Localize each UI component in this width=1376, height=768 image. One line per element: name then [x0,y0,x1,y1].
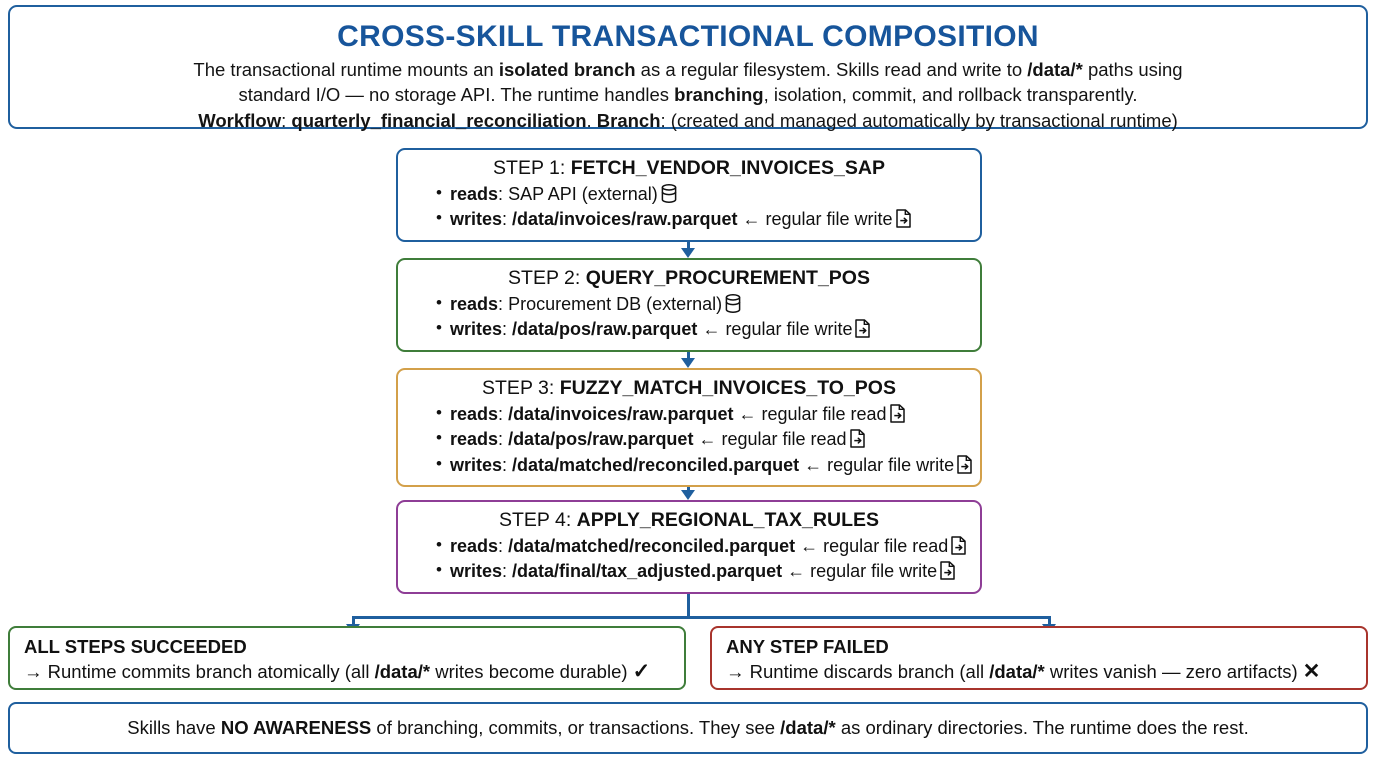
check-icon: ✓ [633,660,651,683]
footer-text-a: Skills have [127,717,221,738]
io-note: ← regular file write [804,455,954,475]
outcome-success-body-c: writes become durable) [430,661,633,682]
step-3-name: FUZZY_MATCH_INVOICES_TO_POS [560,377,896,399]
step-1-title: STEP 1: FETCH_VENDOR_INVOICES_SAP [398,156,980,182]
step-2-name: QUERY_PROCUREMENT_POS [586,267,870,289]
io-kind: writes [450,209,502,229]
file-read-icon [890,404,905,423]
step-2-label: STEP 2: [508,267,586,289]
io-colon: : [502,561,512,581]
outcome-failure-body-a: → Runtime discards branch (all [726,661,989,682]
outcome-success-heading: ALL STEPS SUCCEEDED [24,635,672,658]
io-path: SAP API (external) [508,184,658,204]
io-row: reads: /data/invoices/raw.parquet ← regu… [436,402,972,428]
io-colon: : [502,319,512,339]
step-box-2: STEP 2: QUERY_PROCUREMENT_POSreads: Proc… [396,258,982,352]
io-kind: writes [450,319,502,339]
io-note: ← regular file read [738,404,886,424]
io-path: Procurement DB (external) [508,294,722,314]
footer-note: Skills have NO AWARENESS of branching, c… [127,717,1248,739]
io-colon: : [498,294,508,314]
io-row: reads: /data/pos/raw.parquet ← regular f… [436,427,972,453]
workflow-value: quarterly_financial_reconciliation [291,110,586,131]
step-4-title: STEP 4: APPLY_REGIONAL_TAX_RULES [398,508,980,534]
header-line2-a: standard I/O — no storage API. The runti… [238,84,674,105]
split-connector-right-drop [1048,616,1051,624]
io-path: /data/matched/reconciled.parquet [512,455,799,475]
header-line-3: Workflow: quarterly_financial_reconcilia… [60,108,1316,134]
header-line3-d: . [587,110,597,131]
outcome-failure-heading: ANY STEP FAILED [726,635,1354,658]
footer-text-e: as ordinary directories. The runtime doe… [836,717,1249,738]
io-path: /data/final/tax_adjusted.parquet [512,561,782,581]
io-colon: : [498,429,508,449]
connector-arrowhead-3 [681,490,695,500]
io-path: /data/pos/raw.parquet [512,319,697,339]
header-line-2: standard I/O — no storage API. The runti… [60,82,1316,108]
io-note: ← regular file write [742,209,892,229]
io-path: /data/pos/raw.parquet [508,429,693,449]
step-3-io-list: reads: /data/invoices/raw.parquet ← regu… [398,402,980,479]
header-description: The transactional runtime mounts an isol… [10,53,1366,134]
header-panel: CROSS-SKILL TRANSACTIONAL COMPOSITION Th… [8,5,1368,129]
branch-label: Branch [597,110,661,131]
step-1-label: STEP 1: [493,157,571,179]
footer-emphasis: NO AWARENESS [221,717,371,738]
header-line1-e: paths using [1083,59,1183,80]
step-4-name: APPLY_REGIONAL_TAX_RULES [577,509,879,531]
header-line2-c: , isolation, commit, and rollback transp… [764,84,1138,105]
io-row: writes: /data/invoices/raw.parquet ← reg… [436,207,972,233]
file-write-icon [957,455,972,474]
outcome-failure-body: → Runtime discards branch (all /data/* w… [726,658,1354,685]
database-icon [725,294,741,313]
io-note: ← regular file write [787,561,937,581]
connector-arrowhead-1 [681,248,695,258]
split-connector-left-drop [352,616,355,624]
header-line-1: The transactional runtime mounts an isol… [60,57,1316,83]
header-line1-d: /data/* [1027,59,1083,80]
io-kind: reads [450,294,498,314]
outcome-failure-path: /data/* [989,661,1045,682]
file-write-icon [855,319,870,338]
page-title: CROSS-SKILL TRANSACTIONAL COMPOSITION [10,21,1366,53]
io-colon: : [502,209,512,229]
step-box-1: STEP 1: FETCH_VENDOR_INVOICES_SAPreads: … [396,148,982,242]
footer-path: /data/* [780,717,836,738]
connector-arrowhead-2 [681,358,695,368]
io-row: reads: Procurement DB (external) [436,292,972,318]
step-1-name: FETCH_VENDOR_INVOICES_SAP [571,157,885,179]
database-icon [661,184,677,203]
io-kind: reads [450,404,498,424]
io-note: ← regular file write [702,319,852,339]
io-row: writes: /data/pos/raw.parquet ← regular … [436,317,972,343]
step-4-io-list: reads: /data/matched/reconciled.parquet … [398,534,980,585]
workflow-label: Workflow [198,110,281,131]
step-box-4: STEP 4: APPLY_REGIONAL_TAX_RULESreads: /… [396,500,982,594]
header-line1-a: The transactional runtime mounts an [193,59,498,80]
split-connector-stem [687,594,690,616]
io-path: /data/matched/reconciled.parquet [508,536,795,556]
step-2-io-list: reads: Procurement DB (external)writes: … [398,292,980,343]
io-kind: reads [450,536,498,556]
step-box-3: STEP 3: FUZZY_MATCH_INVOICES_TO_POSreads… [396,368,982,487]
step-1-io-list: reads: SAP API (external)writes: /data/i… [398,182,980,233]
io-row: reads: SAP API (external) [436,182,972,208]
header-line2-b: branching [674,84,763,105]
outcome-success-body-a: → Runtime commits branch atomically (all [24,661,375,682]
split-connector-bar [352,616,1050,619]
outcome-failure-body-c: writes vanish — zero artifacts) [1045,661,1303,682]
io-kind: reads [450,429,498,449]
outcome-success-body: → Runtime commits branch atomically (all… [24,658,672,685]
step-3-label: STEP 3: [482,377,560,399]
header-line3-b: : [281,110,291,131]
footer-panel: Skills have NO AWARENESS of branching, c… [8,702,1368,754]
io-row: writes: /data/final/tax_adjusted.parquet… [436,559,972,585]
io-row: reads: /data/matched/reconciled.parquet … [436,534,972,560]
file-read-icon [951,536,966,555]
io-note: ← regular file read [800,536,948,556]
io-path: /data/invoices/raw.parquet [512,209,737,229]
branch-value: : (created and managed automatically by … [661,110,1178,131]
header-line1-c: as a regular filesystem. Skills read and… [636,59,1028,80]
file-write-icon [940,561,955,580]
io-kind: writes [450,561,502,581]
file-write-icon [896,209,911,228]
io-colon: : [502,455,512,475]
step-4-label: STEP 4: [499,509,577,531]
io-kind: writes [450,455,502,475]
io-row: writes: /data/matched/reconciled.parquet… [436,453,972,479]
io-colon: : [498,536,508,556]
step-3-title: STEP 3: FUZZY_MATCH_INVOICES_TO_POS [398,376,980,402]
header-line1-b: isolated branch [499,59,636,80]
io-kind: reads [450,184,498,204]
io-colon: : [498,404,508,424]
io-colon: : [498,184,508,204]
outcome-success-path: /data/* [375,661,431,682]
outcome-success-panel: ALL STEPS SUCCEEDED → Runtime commits br… [8,626,686,690]
io-path: /data/invoices/raw.parquet [508,404,733,424]
file-read-icon [850,429,865,448]
cross-icon: ✕ [1303,660,1321,683]
io-note: ← regular file read [698,429,846,449]
footer-text-c: of branching, commits, or transactions. … [371,717,780,738]
outcome-failure-panel: ANY STEP FAILED → Runtime discards branc… [710,626,1368,690]
step-2-title: STEP 2: QUERY_PROCUREMENT_POS [398,266,980,292]
